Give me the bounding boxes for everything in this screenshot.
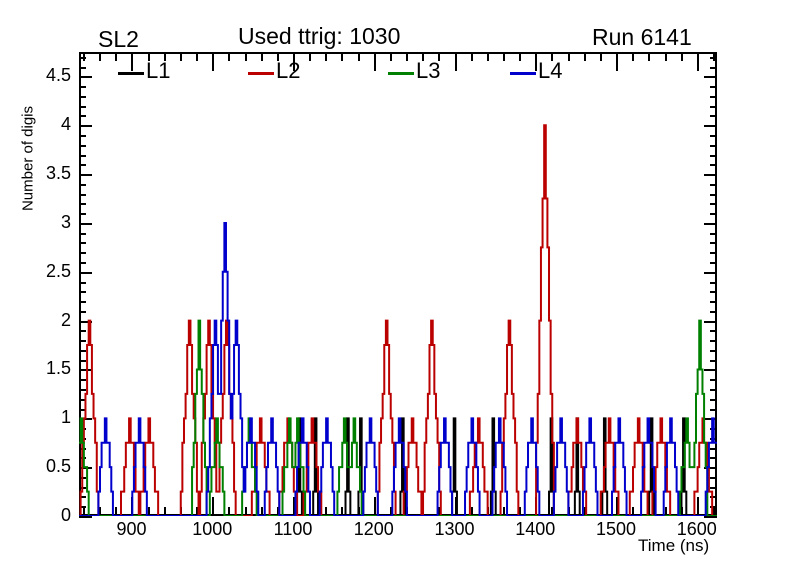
legend-swatch-l1 xyxy=(118,72,144,75)
ttrig-title: Used ttrig: 1030 xyxy=(238,23,400,50)
legend: L1L2L3L4 xyxy=(100,60,600,88)
legend-swatch-l4 xyxy=(510,72,536,75)
y-tick-label: 1.5 xyxy=(11,358,71,379)
y-tick-label: 4.5 xyxy=(11,65,71,86)
y-tick-label: 2.5 xyxy=(11,261,71,282)
legend-label-l1: L1 xyxy=(146,58,170,84)
x-tick-label: 1500 xyxy=(576,519,656,540)
legend-swatch-l3 xyxy=(388,72,414,75)
x-tick-label: 1600 xyxy=(657,519,737,540)
y-tick-major xyxy=(79,516,92,518)
x-tick-label: 1100 xyxy=(253,519,333,540)
legend-label-l3: L3 xyxy=(416,58,440,84)
y-tick-label: 0 xyxy=(11,505,71,526)
series-l2 xyxy=(79,125,717,516)
y-tick-label: 0.5 xyxy=(11,456,71,477)
superlayer-label: SL2 xyxy=(98,26,139,53)
series-plot-area xyxy=(79,52,717,516)
legend-label-l4: L4 xyxy=(538,58,562,84)
y-tick-label: 2 xyxy=(11,310,71,331)
y-tick-label: 4 xyxy=(11,114,71,135)
y-tick-label: 1 xyxy=(11,407,71,428)
y-tick-major-right xyxy=(704,516,717,518)
x-tick-label: 1000 xyxy=(172,519,252,540)
y-tick-label: 3 xyxy=(11,212,71,233)
series-l4 xyxy=(79,223,717,516)
run-label: Run 6141 xyxy=(592,24,692,51)
legend-label-l2: L2 xyxy=(276,58,300,84)
data-curves xyxy=(79,52,717,516)
x-tick-label: 900 xyxy=(91,519,171,540)
x-tick-label: 1400 xyxy=(495,519,575,540)
x-tick-label: 1300 xyxy=(415,519,495,540)
x-tick-label: 1200 xyxy=(334,519,414,540)
legend-swatch-l2 xyxy=(248,72,274,75)
y-tick-label: 3.5 xyxy=(11,163,71,184)
plot-canvas: SL2 Used ttrig: 1030 Run 6141 Number of … xyxy=(0,0,796,572)
